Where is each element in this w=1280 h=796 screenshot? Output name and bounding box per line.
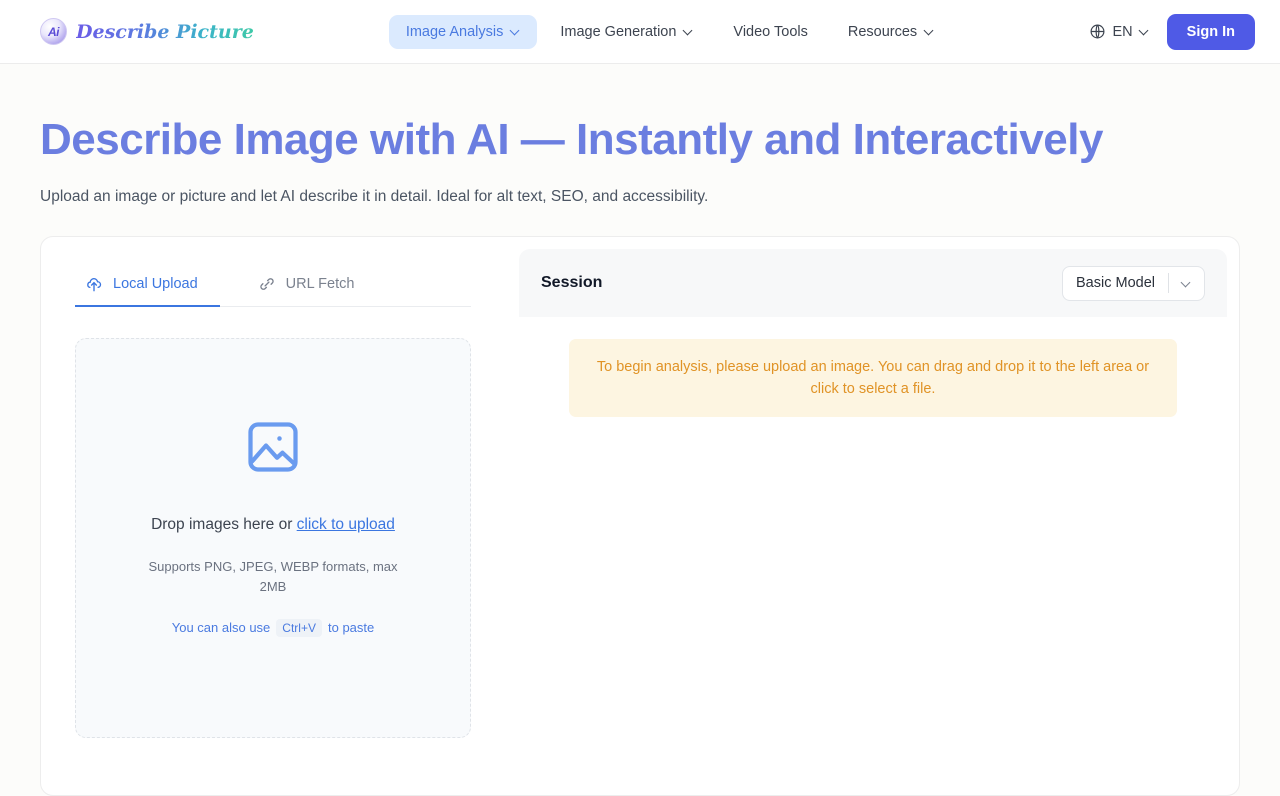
dropzone-prompt-text: Drop images here or xyxy=(151,516,297,533)
session-title: Session xyxy=(541,274,602,292)
upload-panel: Local Upload URL Fetch Drop images here … xyxy=(53,249,493,783)
chevron-down-icon[interactable] xyxy=(1169,279,1204,288)
chevron-down-icon xyxy=(925,27,934,36)
session-body: To begin analysis, please upload an imag… xyxy=(519,317,1227,783)
language-label: EN xyxy=(1113,24,1133,40)
session-header: Session Basic Model xyxy=(519,249,1227,317)
paste-hint-prefix: You can also use xyxy=(172,620,271,635)
paste-shortcut-key: Ctrl+V xyxy=(276,619,322,637)
brand-badge-icon: Ai xyxy=(40,18,67,45)
model-select-value: Basic Model xyxy=(1063,275,1168,291)
workspace-card: Local Upload URL Fetch Drop images here … xyxy=(40,236,1240,796)
image-placeholder-icon xyxy=(243,417,303,477)
brand-logo[interactable]: Ai Describe Picture xyxy=(40,18,254,45)
dropzone-formats: Supports PNG, JPEG, WEBP formats, max 2M… xyxy=(145,557,401,597)
chevron-down-icon xyxy=(1140,27,1149,36)
main-navigation: Image Analysis Image Generation Video To… xyxy=(389,15,951,49)
sign-in-button[interactable]: Sign In xyxy=(1167,14,1255,50)
nav-item-label: Video Tools xyxy=(733,24,807,40)
upload-tabs: Local Upload URL Fetch xyxy=(75,261,471,307)
tab-label: Local Upload xyxy=(113,276,198,292)
hero-section: Describe Image with AI — Instantly and I… xyxy=(0,64,1280,206)
paste-hint-suffix: to paste xyxy=(328,620,374,635)
chevron-down-icon xyxy=(684,27,693,36)
tab-url-fetch[interactable]: URL Fetch xyxy=(248,261,377,307)
tab-label: URL Fetch xyxy=(286,276,355,292)
dropzone-paste-hint: You can also use Ctrl+V to paste xyxy=(172,619,375,637)
language-selector[interactable]: EN xyxy=(1089,23,1149,40)
nav-item-image-analysis[interactable]: Image Analysis xyxy=(389,15,538,49)
nav-item-resources[interactable]: Resources xyxy=(831,15,951,49)
globe-icon xyxy=(1089,23,1106,40)
nav-item-image-generation[interactable]: Image Generation xyxy=(543,15,710,49)
session-panel: Session Basic Model To begin analysis, p… xyxy=(519,249,1227,783)
tab-local-upload[interactable]: Local Upload xyxy=(75,261,220,307)
upload-notice: To begin analysis, please upload an imag… xyxy=(569,339,1177,417)
click-to-upload-link[interactable]: click to upload xyxy=(297,516,395,533)
nav-item-video-tools[interactable]: Video Tools xyxy=(716,15,824,49)
nav-item-label: Resources xyxy=(848,24,917,40)
nav-item-label: Image Generation xyxy=(560,24,676,40)
nav-item-label: Image Analysis xyxy=(406,24,504,40)
model-select[interactable]: Basic Model xyxy=(1062,266,1205,301)
page-title: Describe Image with AI — Instantly and I… xyxy=(40,116,1160,164)
file-dropzone[interactable]: Drop images here or click to upload Supp… xyxy=(75,338,471,738)
brand-name: Describe Picture xyxy=(76,21,254,43)
header-actions: EN Sign In xyxy=(1089,14,1256,50)
cloud-upload-icon xyxy=(85,275,103,293)
page-subtitle: Upload an image or picture and let AI de… xyxy=(40,188,1240,206)
link-icon xyxy=(258,275,276,293)
dropzone-prompt: Drop images here or click to upload xyxy=(151,513,395,537)
chevron-down-icon xyxy=(511,27,520,36)
site-header: Ai Describe Picture Image Analysis Image… xyxy=(0,0,1280,64)
